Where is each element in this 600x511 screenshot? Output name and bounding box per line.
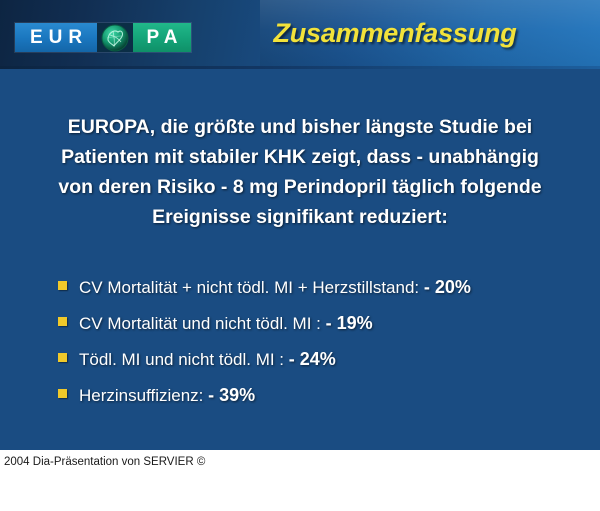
lead-paragraph: EUROPA, die größte und bisher längste St… bbox=[14, 112, 586, 232]
list-item: CV Mortalität + nicht tödl. MI + Herzsti… bbox=[58, 277, 578, 313]
logo-text-eur: EUR bbox=[15, 23, 97, 52]
presentation-slide: EUR PA Zusammenfassung EUROP bbox=[0, 0, 600, 450]
bullet-label: CV Mortalität + nicht tödl. MI + Herzsti… bbox=[79, 278, 419, 297]
lead-line-1: EUROPA, die größte und bisher längste St… bbox=[14, 112, 586, 142]
logo-text-pa: PA bbox=[133, 23, 191, 52]
lead-line-2: Patienten mit stabiler KHK zeigt, dass -… bbox=[14, 142, 586, 172]
bullet-value: - 24% bbox=[289, 349, 336, 369]
bullet-label: Herzinsuffizienz: bbox=[79, 386, 203, 405]
copyright-text: 2004 Dia-Präsentation von SERVIER © bbox=[4, 456, 205, 468]
square-bullet-icon bbox=[58, 281, 67, 290]
europa-logo: EUR PA bbox=[15, 23, 191, 52]
outcome-bullet-list: CV Mortalität + nicht tödl. MI + Herzsti… bbox=[58, 277, 578, 421]
list-item: CV Mortalität und nicht tödl. MI : - 19% bbox=[58, 313, 578, 349]
page-footer: 2004 Dia-Präsentation von SERVIER © bbox=[0, 450, 600, 511]
square-bullet-icon bbox=[58, 353, 67, 362]
bullet-label: Tödl. MI und nicht tödl. MI : bbox=[79, 350, 284, 369]
header-divider bbox=[0, 66, 600, 69]
bullet-content: Tödl. MI und nicht tödl. MI : - 24% bbox=[79, 349, 336, 370]
list-item: Tödl. MI und nicht tödl. MI : - 24% bbox=[58, 349, 578, 385]
globe-heart-icon bbox=[97, 23, 133, 52]
bullet-value: - 20% bbox=[424, 277, 471, 297]
lead-line-3: von deren Risiko - 8 mg Perindopril tägl… bbox=[14, 172, 586, 202]
square-bullet-icon bbox=[58, 389, 67, 398]
square-bullet-icon bbox=[58, 317, 67, 326]
bullet-value: - 19% bbox=[326, 313, 373, 333]
bullet-label: CV Mortalität und nicht tödl. MI : bbox=[79, 314, 321, 333]
slide-title: Zusammenfassung bbox=[200, 18, 590, 49]
lead-line-4: Ereignisse signifikant reduziert: bbox=[14, 202, 586, 232]
bullet-content: CV Mortalität + nicht tödl. MI + Herzsti… bbox=[79, 277, 471, 298]
bullet-value: - 39% bbox=[208, 385, 255, 405]
list-item: Herzinsuffizienz: - 39% bbox=[58, 385, 578, 421]
bullet-content: Herzinsuffizienz: - 39% bbox=[79, 385, 255, 406]
bullet-content: CV Mortalität und nicht tödl. MI : - 19% bbox=[79, 313, 373, 334]
